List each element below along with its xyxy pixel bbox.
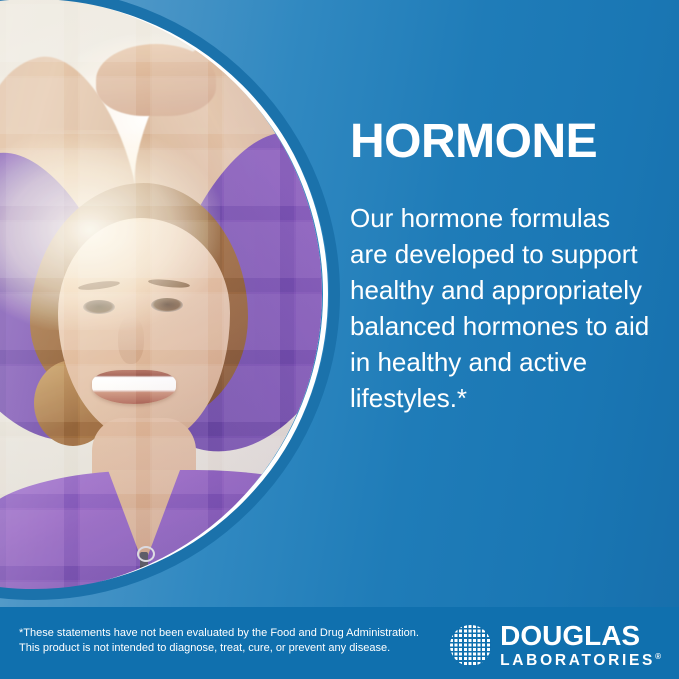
page-title: HORMONE [350,118,650,166]
photo-content [0,0,322,594]
product-banner: HORMONE Our hormone formulas are develop… [0,0,679,679]
footer-bar: *These statements have not been evaluate… [0,607,679,679]
grid-sphere-icon [450,625,491,666]
brand-logo-wordmark: DOUGLAS LABORATORIES® [500,622,661,669]
brand-logo: DOUGLAS LABORATORIES® [450,622,661,669]
fda-disclaimer: *These statements have not been evaluate… [19,626,439,656]
disclaimer-line-2: This product is not intended to diagnose… [19,641,439,656]
brand-name-secondary-text: LABORATORIES [500,652,655,669]
description-text: Our hormone formulas are developed to su… [350,200,650,416]
copy-block: HORMONE Our hormone formulas are develop… [350,118,650,416]
brand-name-primary: DOUGLAS [500,622,661,650]
photo-color-veil [0,0,322,594]
brand-name-secondary: LABORATORIES® [500,653,661,669]
registered-trademark-icon: ® [655,652,661,661]
photo-disc-mask [0,0,322,594]
hero-photo [0,0,340,614]
disclaimer-line-1: *These statements have not been evaluate… [19,626,439,641]
